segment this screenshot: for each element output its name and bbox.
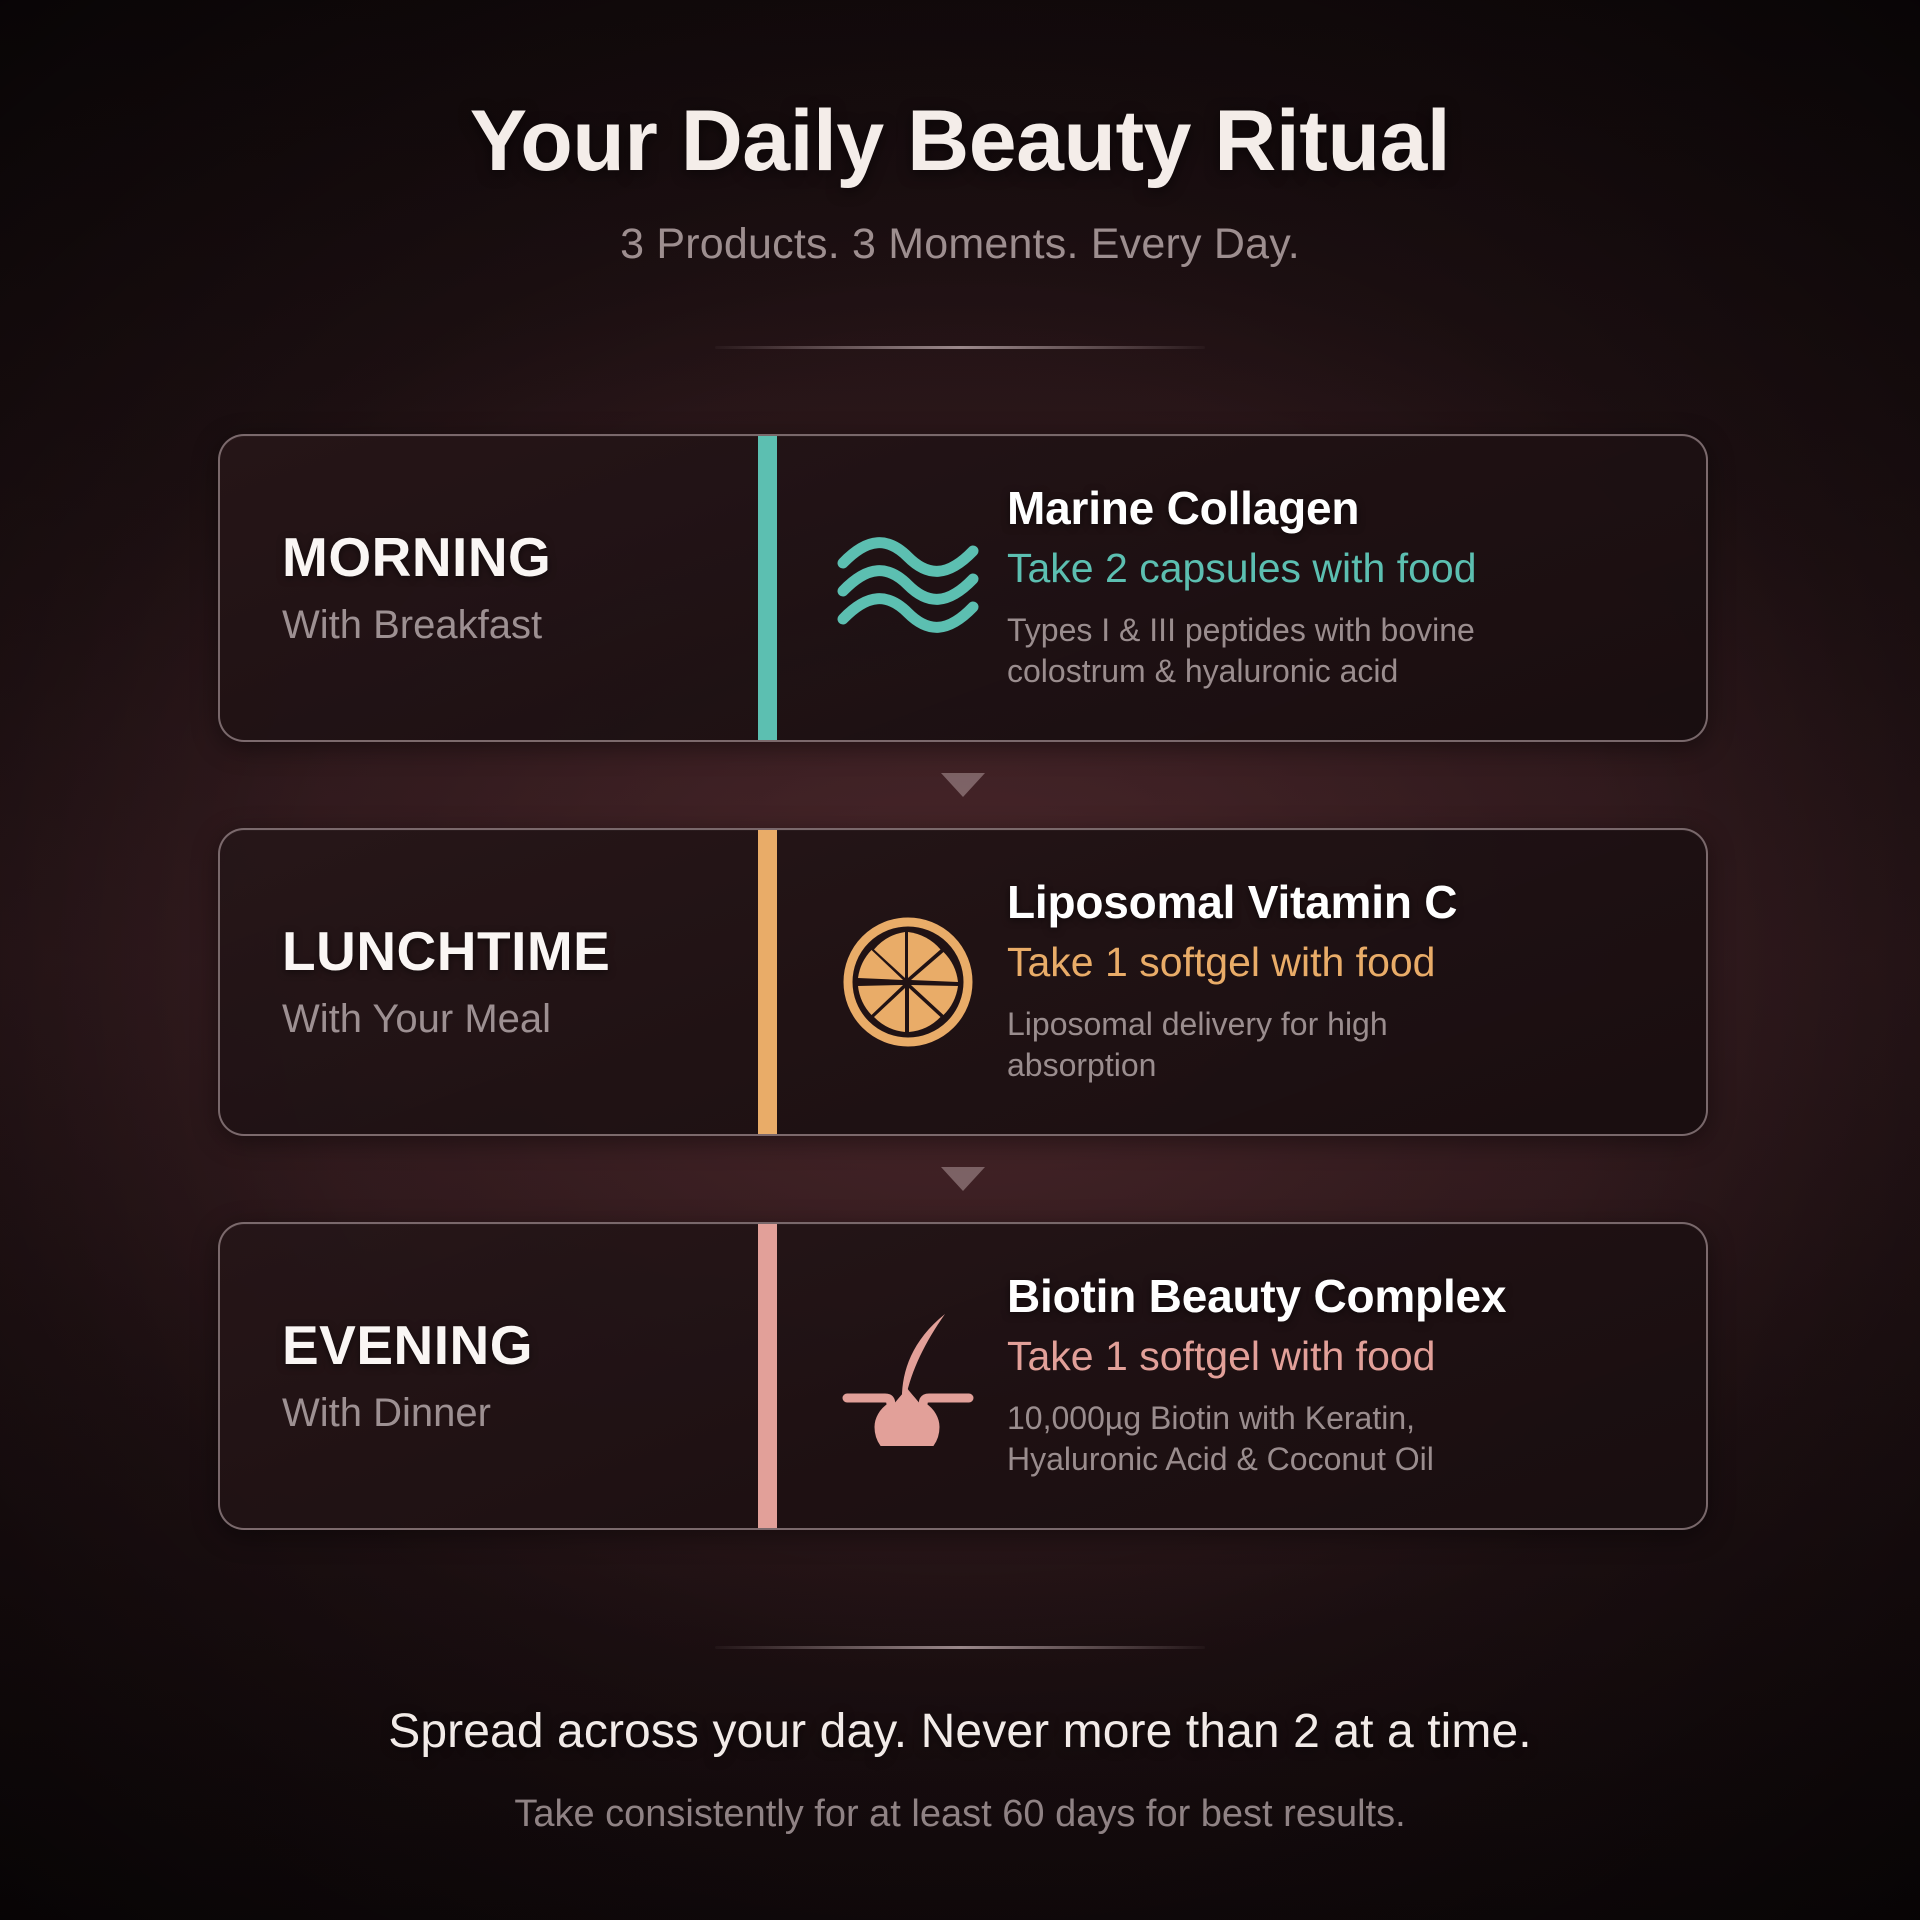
- product-description: Liposomal delivery for high absorption: [1007, 1004, 1507, 1086]
- product-description: 10,000µg Biotin with Keratin, Hyaluronic…: [1007, 1398, 1567, 1480]
- product-name: Biotin Beauty Complex: [1007, 1272, 1674, 1322]
- arrow-down-icon: [941, 773, 985, 797]
- hair-follicle-icon: [813, 1306, 1003, 1446]
- footer: Spread across your day. Never more than …: [0, 1704, 1920, 1836]
- connector-1: [218, 742, 1708, 828]
- card-product-block: Biotin Beauty Complex Take 1 softgel wit…: [777, 1224, 1706, 1528]
- product-info: Marine Collagen Take 2 capsules with foo…: [1003, 484, 1674, 691]
- accent-bar-evening: [758, 1224, 777, 1528]
- card-time-block: LUNCHTIME With Your Meal: [220, 830, 758, 1134]
- ritual-card-morning[interactable]: MORNING With Breakfast Marine Collagen T…: [218, 434, 1708, 742]
- product-dose: Take 1 softgel with food: [1007, 940, 1674, 986]
- time-context-label: With Breakfast: [282, 603, 758, 647]
- card-product-block: Marine Collagen Take 2 capsules with foo…: [777, 436, 1706, 740]
- arrow-down-icon: [941, 1167, 985, 1191]
- accent-bar-morning: [758, 436, 777, 740]
- time-context-label: With Your Meal: [282, 997, 758, 1041]
- card-time-block: EVENING With Dinner: [220, 1224, 758, 1528]
- page-title: Your Daily Beauty Ritual: [0, 98, 1920, 184]
- footer-primary-text: Spread across your day. Never more than …: [0, 1704, 1920, 1759]
- footer-secondary-text: Take consistently for at least 60 days f…: [0, 1793, 1920, 1836]
- card-product-block: Liposomal Vitamin C Take 1 softgel with …: [777, 830, 1706, 1134]
- divider-top: [715, 346, 1205, 349]
- product-description: Types I & III peptides with bovine colos…: [1007, 610, 1597, 692]
- ritual-card-evening[interactable]: EVENING With Dinner Biotin Beauty Comple…: [218, 1222, 1708, 1530]
- page-subtitle: 3 Products. 3 Moments. Every Day.: [0, 220, 1920, 269]
- time-of-day-label: MORNING: [282, 529, 758, 587]
- waves-icon: [813, 533, 1003, 643]
- time-of-day-label: EVENING: [282, 1317, 758, 1375]
- citrus-slice-icon: [813, 916, 1003, 1048]
- product-info: Liposomal Vitamin C Take 1 softgel with …: [1003, 878, 1674, 1085]
- accent-bar-lunchtime: [758, 830, 777, 1134]
- time-of-day-label: LUNCHTIME: [282, 923, 758, 981]
- product-dose: Take 1 softgel with food: [1007, 1334, 1674, 1380]
- ritual-card-lunchtime[interactable]: LUNCHTIME With Your Meal: [218, 828, 1708, 1136]
- header: Your Daily Beauty Ritual 3 Products. 3 M…: [0, 98, 1920, 269]
- connector-2: [218, 1136, 1708, 1222]
- product-info: Biotin Beauty Complex Take 1 softgel wit…: [1003, 1272, 1674, 1479]
- infographic-page: Your Daily Beauty Ritual 3 Products. 3 M…: [0, 0, 1920, 1920]
- ritual-card-list: MORNING With Breakfast Marine Collagen T…: [218, 434, 1708, 1530]
- product-name: Marine Collagen: [1007, 484, 1674, 534]
- product-name: Liposomal Vitamin C: [1007, 878, 1674, 928]
- divider-bottom: [715, 1646, 1205, 1649]
- time-context-label: With Dinner: [282, 1391, 758, 1435]
- card-time-block: MORNING With Breakfast: [220, 436, 758, 740]
- product-dose: Take 2 capsules with food: [1007, 546, 1674, 592]
